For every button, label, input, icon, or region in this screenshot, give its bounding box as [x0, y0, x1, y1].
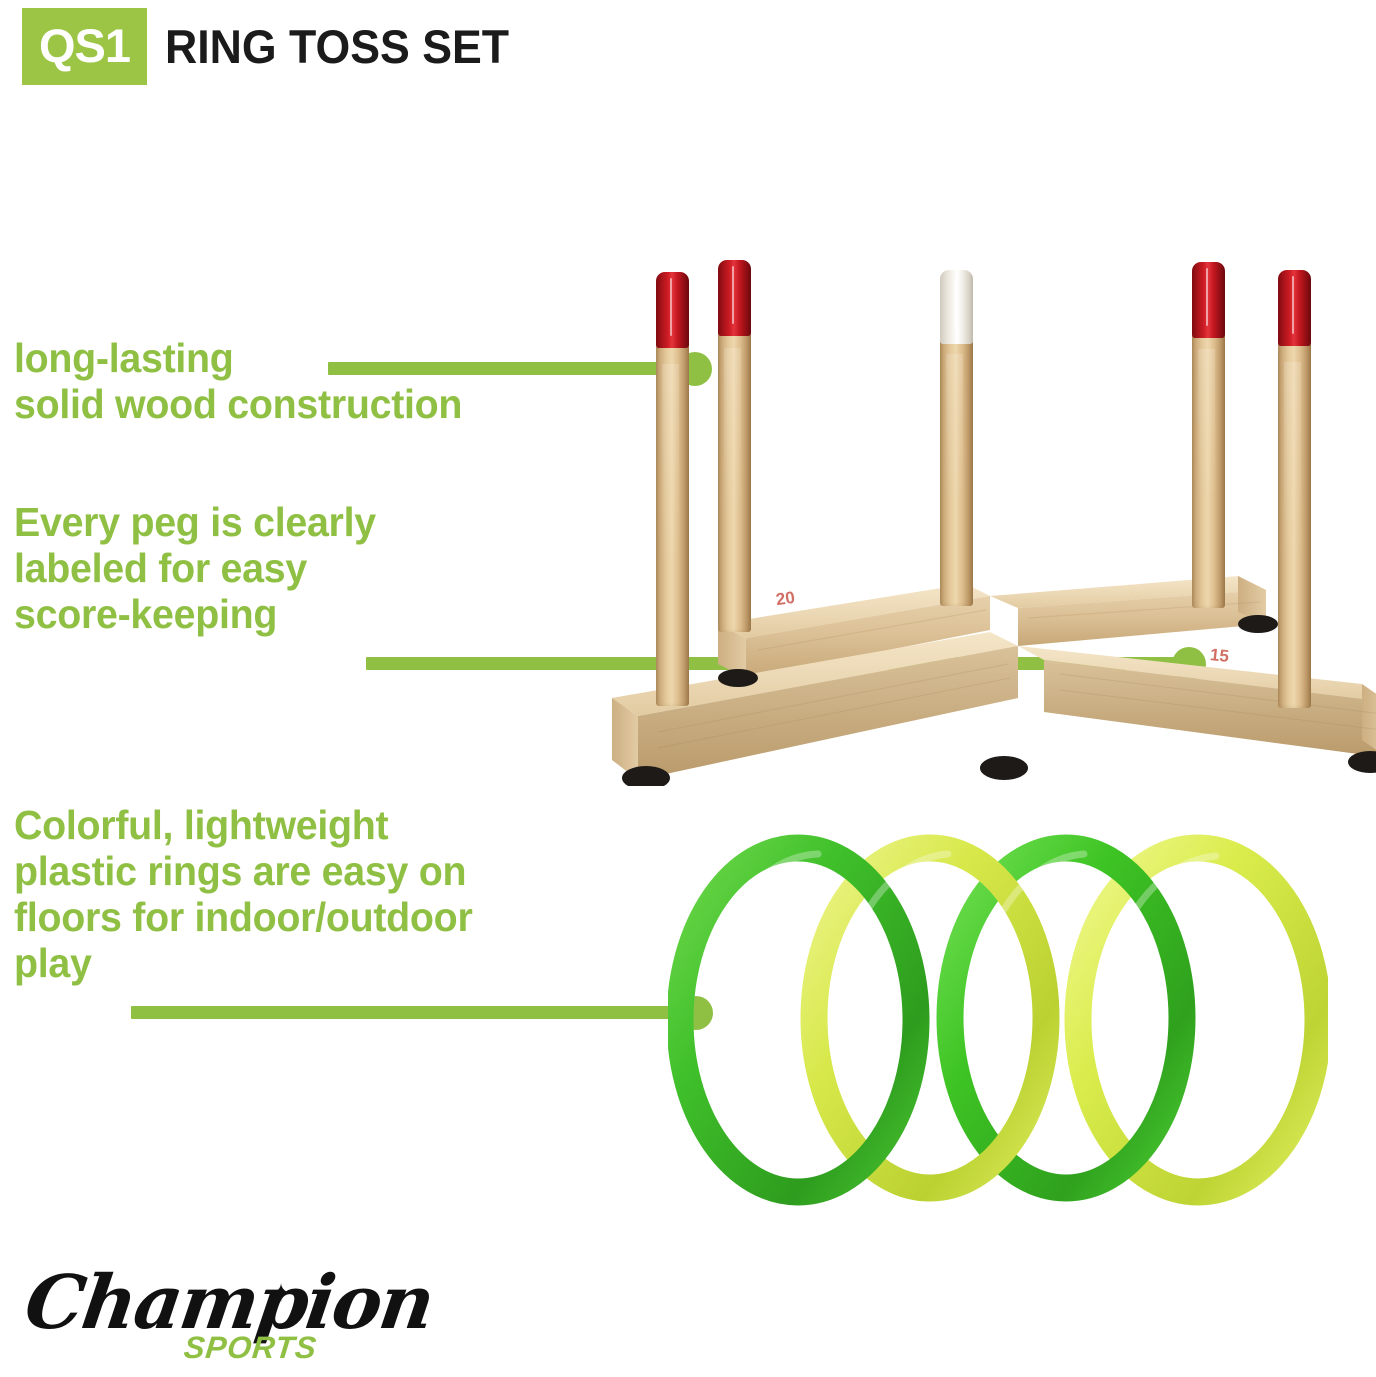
leader-line-rings [131, 1006, 697, 1019]
rings-illustration [668, 828, 1328, 1208]
page-title: RING TOSS SET [165, 23, 509, 70]
score-label-20: 20 [775, 588, 797, 610]
plastic-rings-group [668, 828, 1328, 1208]
peg-left [718, 330, 751, 632]
callout-text-labeled-pegs: Every peg is clearly labeled for easy sc… [14, 500, 513, 638]
peg-center [940, 338, 973, 606]
callout-text-plastic-rings: Colorful, lightweight plastic rings are … [14, 803, 648, 987]
ring-1 [680, 848, 916, 1192]
score-label-15: 15 [1209, 645, 1230, 667]
product-infographic: QS1 RING TOSS SET long-lasting solid woo… [0, 0, 1376, 1377]
star-icon: ✦ [268, 1280, 294, 1306]
header: QS1 RING TOSS SET [22, 8, 527, 85]
stand-base-illustration [598, 246, 1376, 786]
ring-4 [1078, 848, 1318, 1192]
peg-left-tip [718, 260, 751, 336]
logo-subtext: SPORTS [182, 1330, 319, 1366]
callout-text-long-lasting-construction: long-lasting solid wood construction [14, 336, 628, 428]
peg-center-tip [940, 270, 973, 344]
sku-badge: QS1 [22, 8, 147, 85]
peg-far-left [656, 342, 689, 706]
champion-sports-logo: Champion ✦ SPORTS [16, 1258, 376, 1370]
peg-far-right-tip [1278, 270, 1311, 346]
peg-right-tip [1192, 262, 1225, 338]
peg-right [1192, 332, 1225, 608]
peg-far-right [1278, 340, 1311, 708]
ring-toss-stand: 20 15 [598, 246, 1376, 786]
peg-far-left-tip [656, 272, 689, 348]
